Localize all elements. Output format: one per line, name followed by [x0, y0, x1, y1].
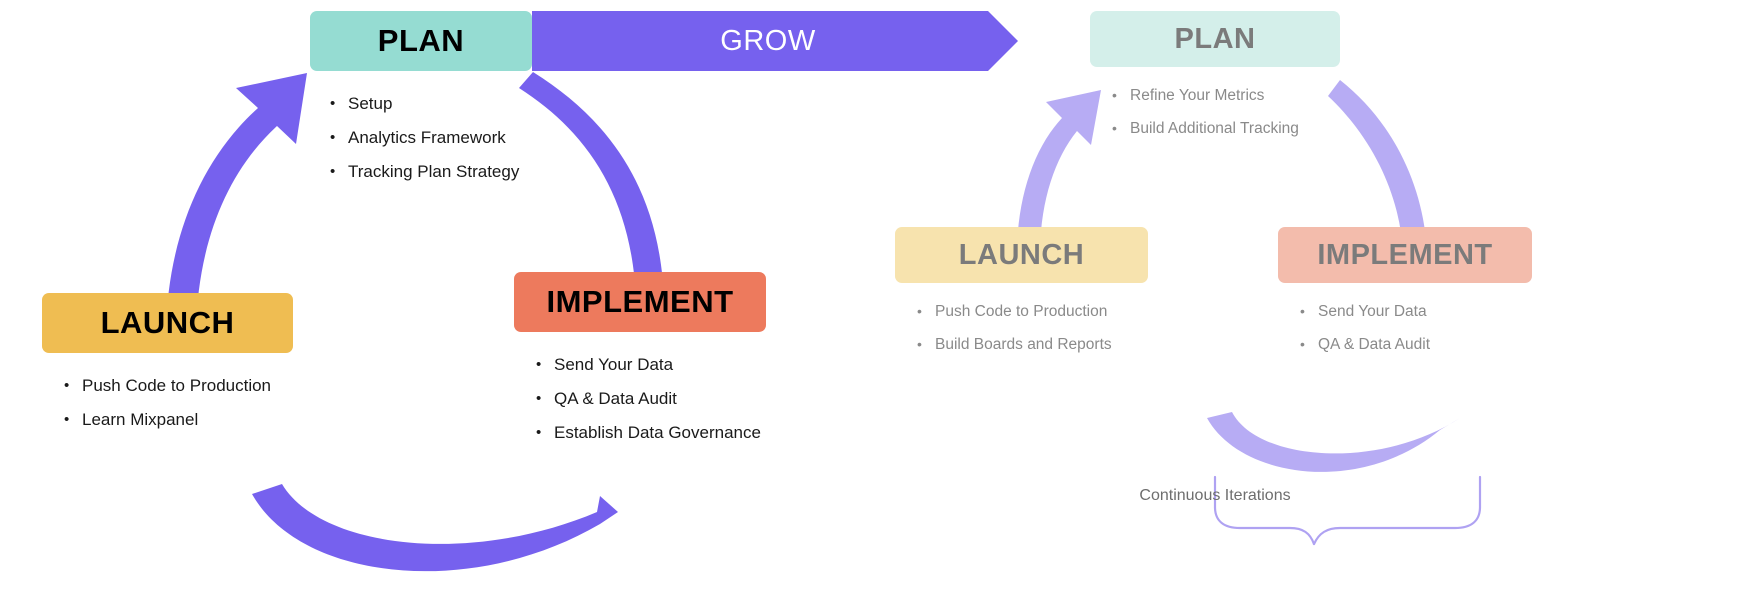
list-item-label: Push Code to Production [935, 295, 1107, 328]
list-item-label: Tracking Plan Strategy [348, 155, 519, 189]
bullet-icon: • [1300, 328, 1318, 361]
stage-launch-right: LAUNCH • Push Code to Production • Build… [895, 227, 1148, 361]
list-item-label: Push Code to Production [82, 369, 271, 403]
bullet-icon: • [536, 348, 554, 382]
bullet-icon: • [64, 403, 82, 437]
list-item: • Push Code to Production [917, 295, 1148, 328]
list-item-label: Send Your Data [1318, 295, 1427, 328]
stage-plan-left: PLAN • Setup • Analytics Framework • Tra… [310, 11, 532, 189]
list-item-label: Send Your Data [554, 348, 673, 382]
continuous-iterations-label: Continuous Iterations [1135, 487, 1295, 505]
stage-plan-right-items: • Refine Your Metrics • Build Additional… [1090, 67, 1340, 145]
stage-plan-left-header: PLAN [310, 11, 532, 71]
stage-launch-right-items: • Push Code to Production • Build Boards… [895, 283, 1148, 361]
bullet-icon: • [330, 155, 348, 189]
stage-implement-right: IMPLEMENT • Send Your Data • QA & Data A… [1278, 227, 1532, 361]
bullet-icon: • [1112, 112, 1130, 145]
list-item: • Build Boards and Reports [917, 328, 1148, 361]
list-item-label: Analytics Framework [348, 121, 506, 155]
stage-launch-right-header: LAUNCH [895, 227, 1148, 283]
stage-implement-left-items: • Send Your Data • QA & Data Audit • Est… [514, 332, 766, 450]
list-item: • Push Code to Production [64, 369, 293, 403]
stage-launch-left-header: LAUNCH [42, 293, 293, 353]
bullet-icon: • [536, 382, 554, 416]
grow-banner-label: GROW [532, 11, 1004, 71]
arrow-implement-to-launch-right [1207, 412, 1460, 472]
list-item: • QA & Data Audit [1300, 328, 1532, 361]
bullet-icon: • [536, 416, 554, 450]
list-item-label: Learn Mixpanel [82, 403, 198, 437]
list-item: • QA & Data Audit [536, 382, 766, 416]
stage-launch-left: LAUNCH • Push Code to Production • Learn… [42, 293, 293, 437]
stage-implement-right-items: • Send Your Data • QA & Data Audit [1278, 283, 1532, 361]
list-item-label: QA & Data Audit [554, 382, 677, 416]
stage-plan-right: PLAN • Refine Your Metrics • Build Addit… [1090, 11, 1340, 145]
bullet-icon: • [917, 295, 935, 328]
stage-implement-left-header: IMPLEMENT [514, 272, 766, 332]
stage-plan-left-items: • Setup • Analytics Framework • Tracking… [310, 71, 532, 189]
stage-implement-right-header: IMPLEMENT [1278, 227, 1532, 283]
list-item: • Analytics Framework [330, 121, 532, 155]
list-item: • Send Your Data [1300, 295, 1532, 328]
bullet-icon: • [330, 87, 348, 121]
list-item-label: Build Additional Tracking [1130, 112, 1299, 145]
list-item: • Refine Your Metrics [1112, 79, 1340, 112]
list-item-label: Refine Your Metrics [1130, 79, 1264, 112]
bullet-icon: • [330, 121, 348, 155]
stage-launch-left-items: • Push Code to Production • Learn Mixpan… [42, 353, 293, 437]
stage-plan-right-header: PLAN [1090, 11, 1340, 67]
arrow-plan-to-implement-left [519, 72, 664, 300]
bullet-icon: • [64, 369, 82, 403]
list-item: • Setup [330, 87, 532, 121]
stage-implement-left: IMPLEMENT • Send Your Data • QA & Data A… [514, 272, 766, 450]
list-item: • Establish Data Governance [536, 416, 766, 450]
arrow-implement-to-launch-left [252, 484, 618, 571]
list-item: • Tracking Plan Strategy [330, 155, 532, 189]
list-item-label: Setup [348, 87, 392, 121]
bullet-icon: • [917, 328, 935, 361]
list-item-label: QA & Data Audit [1318, 328, 1430, 361]
bullet-icon: • [1300, 295, 1318, 328]
bullet-icon: • [1112, 79, 1130, 112]
list-item: • Build Additional Tracking [1112, 112, 1340, 145]
diagram-canvas: GROW PLAN • Setup • Analytics Framework … [0, 0, 1740, 589]
list-item: • Send Your Data [536, 348, 766, 382]
arrow-launch-to-plan-right [1017, 90, 1101, 250]
list-item: • Learn Mixpanel [64, 403, 293, 437]
list-item-label: Build Boards and Reports [935, 328, 1112, 361]
arrow-launch-to-plan-left [166, 73, 307, 330]
list-item-label: Establish Data Governance [554, 416, 761, 450]
